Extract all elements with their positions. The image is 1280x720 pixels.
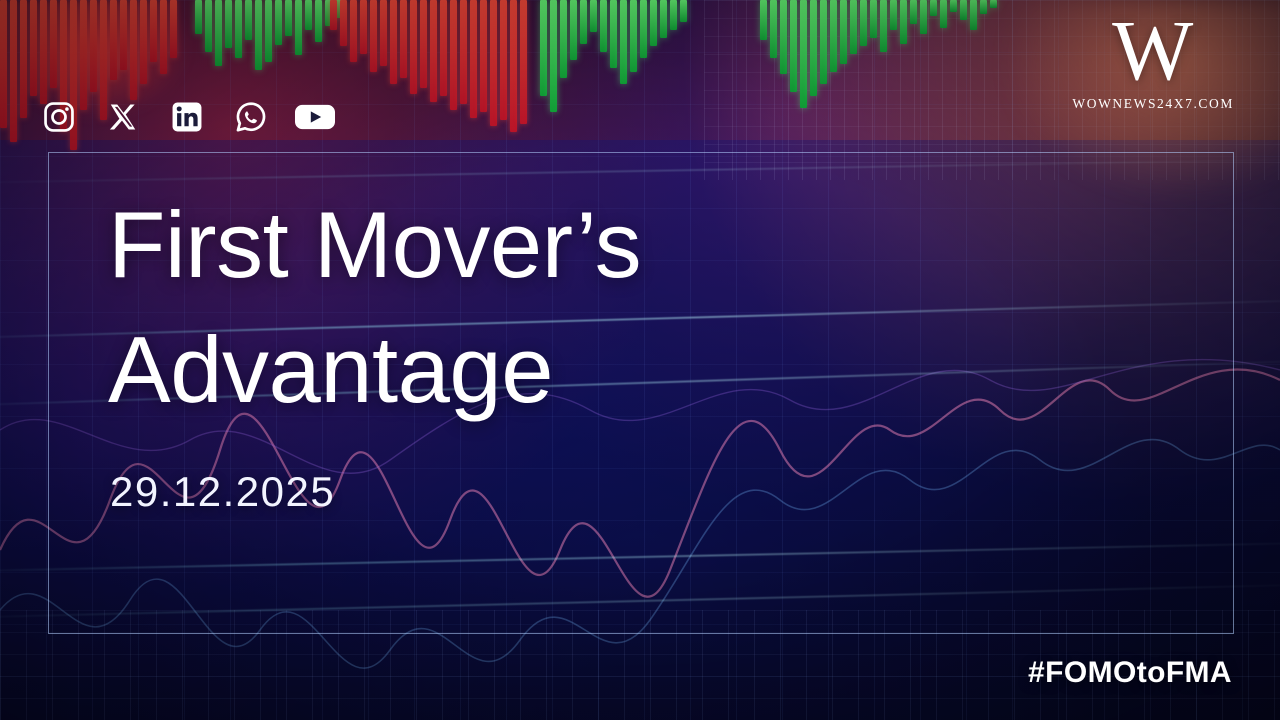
logo-mark-w: W (1072, 8, 1234, 92)
page-title: First Mover’s Advantage (108, 182, 641, 432)
linkedin-icon[interactable] (166, 96, 208, 138)
background-bar-cluster-green-right (760, 0, 997, 170)
logo-wordmark: WOWNEWS24X7.COM (1072, 96, 1234, 112)
brand-logo[interactable]: W WOWNEWS24X7.COM (1072, 8, 1234, 112)
background-bar-cluster-green-left (195, 0, 342, 170)
hashtag-label: #FOMOtoFMA (1028, 656, 1232, 690)
x-twitter-icon[interactable] (102, 96, 144, 138)
publish-date: 29.12.2025 (110, 468, 335, 516)
instagram-icon[interactable] (38, 96, 80, 138)
youtube-icon[interactable] (294, 96, 336, 138)
social-links (38, 96, 336, 138)
background-bar-cluster-red-left (0, 0, 177, 170)
whatsapp-icon[interactable] (230, 96, 272, 138)
background-bar-cluster-red-center (330, 0, 527, 170)
background-bar-cluster-green-center (540, 0, 687, 170)
social-media-graphic: W WOWNEWS24X7.COM First Mover’s Advantag… (0, 0, 1280, 720)
